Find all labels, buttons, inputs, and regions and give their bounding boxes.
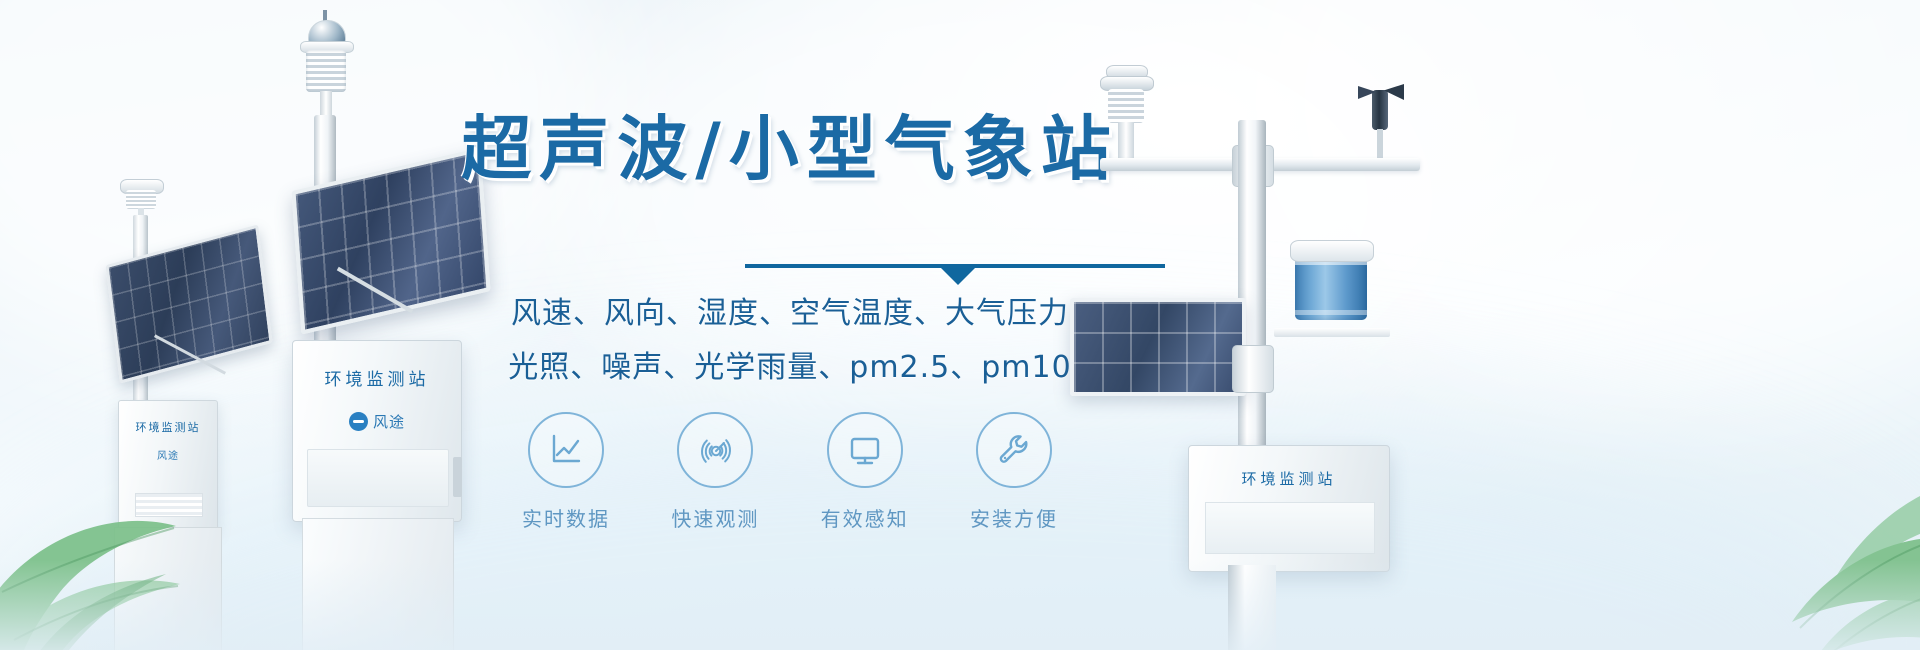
monitor-icon (827, 412, 903, 488)
sensor-head-icon (298, 20, 354, 120)
cabinet-label: 环境监测站 (1199, 468, 1379, 489)
feature-label: 安装方便 (970, 503, 1058, 532)
feature-list: 实时数据 快速观测 (510, 412, 1070, 532)
product-banner: 环境监测站 风途 环境监测站 风途 超声波/小型气象站 (0, 0, 1920, 650)
feature-item-realtime-data[interactable]: 实时数据 (510, 412, 622, 532)
solar-panel (105, 224, 272, 383)
wind-vane-icon (1358, 80, 1404, 160)
line-chart-icon (528, 412, 604, 488)
banner-copy: 超声波/小型气象站 风速、风向、湿度、空气温度、大气压力 光照、噪声、光学雨量、… (440, 100, 1140, 580)
brand-logo: 风途 (293, 411, 461, 432)
feature-item-fast-observation[interactable]: 快速观测 (659, 412, 771, 532)
feature-label: 快速观测 (671, 503, 759, 532)
instrument-shelf (1274, 328, 1390, 337)
cabinet-door (307, 449, 449, 507)
brand-label: 风途 (373, 411, 405, 432)
mast-collar-lower (1232, 345, 1274, 393)
feature-item-effective-sensing[interactable]: 有效感知 (809, 412, 921, 532)
bottom-fade (0, 560, 1920, 650)
ultrasonic-sensor-icon (120, 175, 162, 215)
control-cabinet: 环境监测站 (1188, 445, 1390, 572)
cabinet-label: 环境监测站 (303, 365, 451, 390)
page-title: 超声波/小型气象站 (440, 114, 1140, 184)
solar-panel (1070, 298, 1246, 396)
vent-icon (135, 493, 203, 517)
chevron-down-icon (941, 268, 975, 285)
ultrasonic-wind-sensor-icon (1098, 65, 1154, 160)
cabinet-door (1205, 502, 1375, 554)
feature-label: 有效感知 (821, 503, 909, 532)
control-cabinet: 环境监测站 风途 (292, 340, 462, 522)
radar-scan-icon (677, 412, 753, 488)
brand-label: 风途 (127, 447, 209, 462)
subtitle-line-1: 风速、风向、湿度、空气温度、大气压力 (440, 288, 1140, 332)
feature-label: 实时数据 (522, 503, 610, 532)
subtitle-line-2: 光照、噪声、光学雨量、pm2.5、pm10 (440, 342, 1140, 386)
control-cabinet: 环境监测站 风途 (118, 400, 218, 532)
brand-mark-icon (349, 412, 368, 431)
rain-gauge-icon (1288, 240, 1374, 332)
wrench-icon (976, 412, 1052, 488)
cabinet-label: 环境监测站 (127, 419, 209, 435)
feature-item-easy-install[interactable]: 安装方便 (958, 412, 1070, 532)
